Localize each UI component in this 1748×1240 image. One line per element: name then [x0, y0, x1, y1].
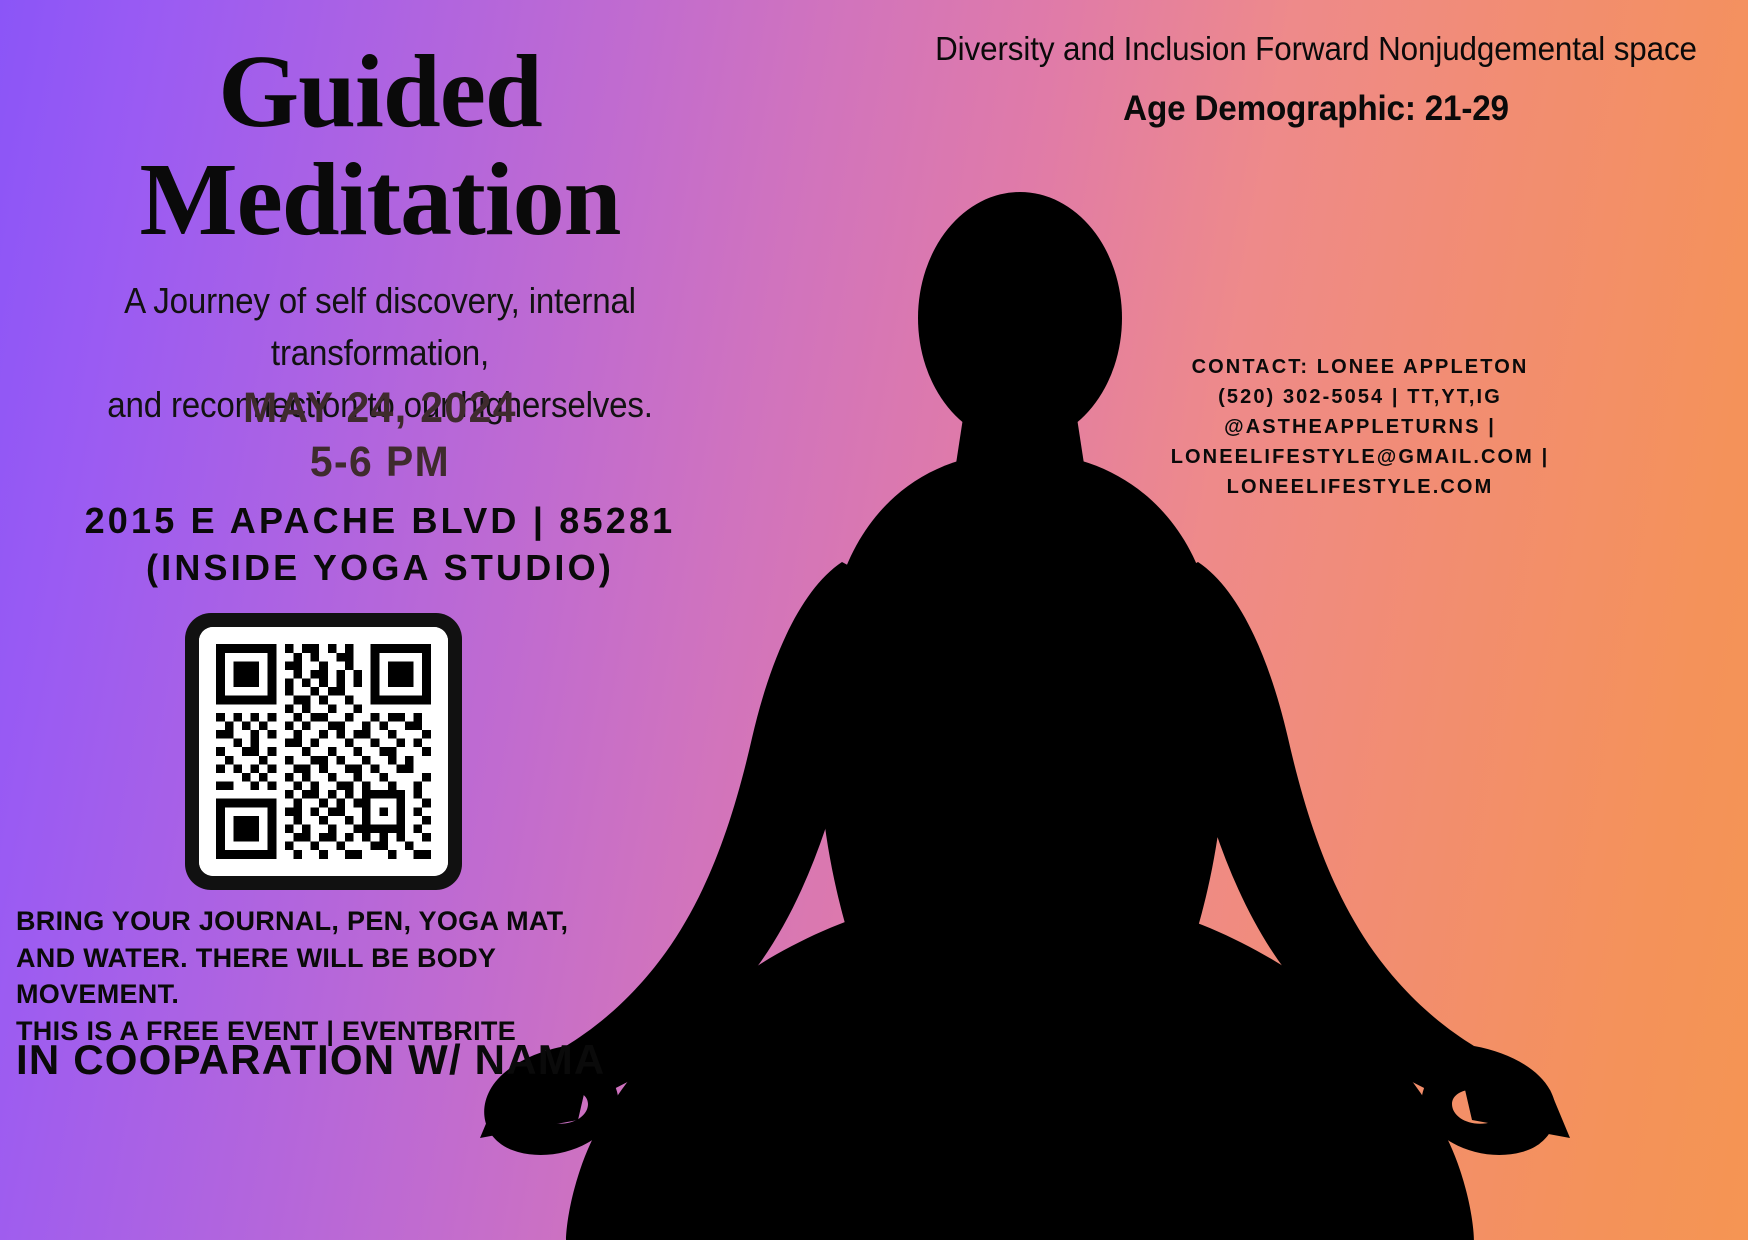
note-line-3: MOVEMENT.: [16, 976, 626, 1013]
poster-canvas: Guided Meditation A Journey of self disc…: [0, 0, 1748, 1240]
address-line-1: 2015 E APACHE BLVD | 85281: [0, 498, 760, 545]
title-line-2: Meditation: [0, 146, 760, 254]
cooperation-note: IN COOPARATION W/ NAMA: [16, 1036, 605, 1084]
event-time: 5-6 PM: [19, 436, 741, 490]
contact-line-4: LONEELIFESTYLE@GMAIL.COM |: [1150, 442, 1570, 472]
contact-line-3: @ASTHEAPPLETURNS |: [1150, 412, 1570, 442]
qr-code[interactable]: [185, 613, 462, 890]
age-demographic: Age Demographic: 21-29: [927, 89, 1706, 129]
event-date: MAY 24, 2024: [19, 382, 741, 436]
diversity-statement: Diversity and Inclusion Forward Nonjudge…: [927, 28, 1706, 71]
contact-line-1: CONTACT: LONEE APPLETON: [1150, 352, 1570, 382]
address-line-2: (INSIDE YOGA STUDIO): [0, 545, 760, 592]
page-title: Guided Meditation: [0, 38, 760, 254]
note-line-2: AND WATER. THERE WILL BE BODY: [16, 940, 626, 977]
contact-line-5: LONEELIFESTYLE.COM: [1150, 472, 1570, 502]
qr-code-icon: [199, 627, 448, 876]
header-right: Diversity and Inclusion Forward Nonjudge…: [906, 28, 1726, 129]
contact-line-2: (520) 302-5054 | TT,YT,IG: [1150, 382, 1570, 412]
event-notes: BRING YOUR JOURNAL, PEN, YOGA MAT, AND W…: [16, 903, 626, 1050]
event-address: 2015 E APACHE BLVD | 85281 (INSIDE YOGA …: [0, 498, 760, 592]
title-line-1: Guided: [0, 38, 760, 146]
note-line-1: BRING YOUR JOURNAL, PEN, YOGA MAT,: [16, 903, 626, 940]
event-datetime: MAY 24, 2024 5-6 PM: [0, 382, 760, 490]
contact-block: CONTACT: LONEE APPLETON (520) 302-5054 |…: [1150, 352, 1570, 502]
tagline-line-1: A Journey of self discovery, internal tr…: [30, 275, 729, 379]
